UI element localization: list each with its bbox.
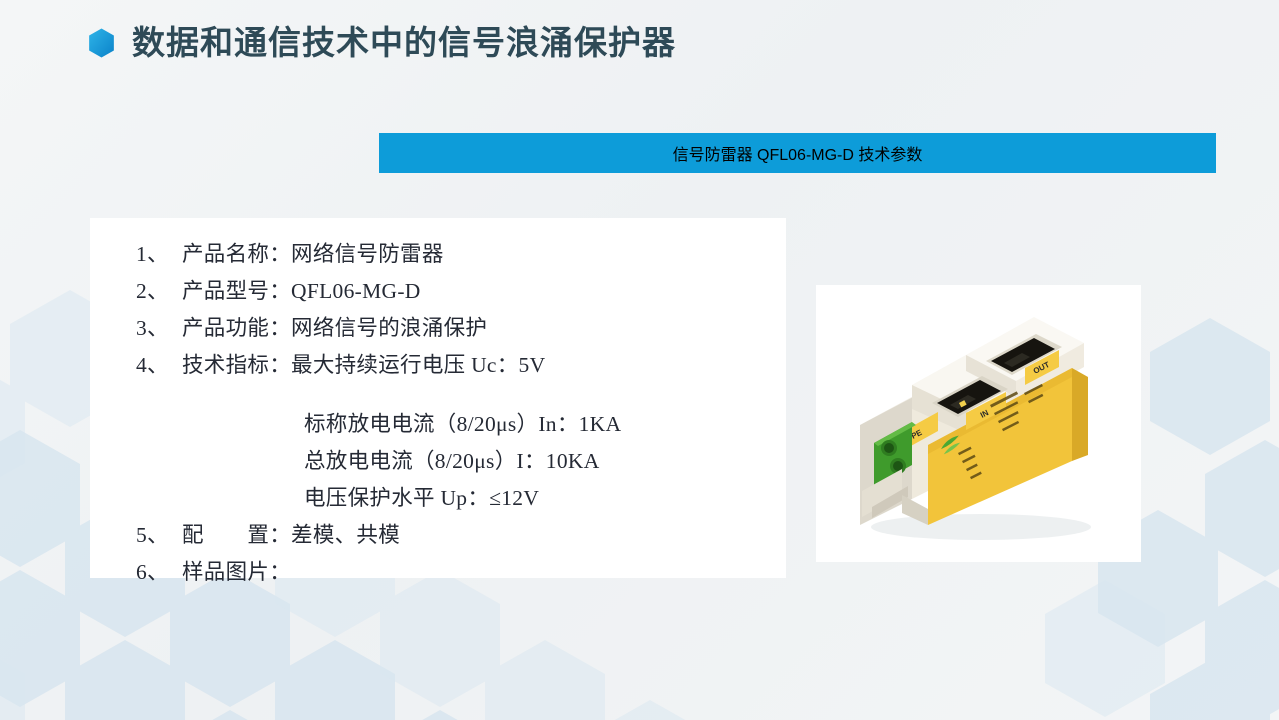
spec-spacer <box>136 384 776 406</box>
spec-subitem-total-discharge-current: 总放电电流（8/20μs）I：10KA <box>136 443 776 480</box>
spec-item-1-number: 1、 <box>136 236 182 273</box>
spec-item-2: 2、产品型号：QFL06-MG-D <box>136 273 776 310</box>
spec-banner: 信号防雷器 QFL06-MG-D 技术参数 <box>379 133 1216 173</box>
page-title: 数据和通信技术中的信号浪涌保护器 <box>132 24 676 62</box>
hexagon-icon <box>88 28 115 58</box>
spec-item-3-label: 产品功能： <box>182 310 291 347</box>
spec-item-4: 4、技术指标：最大持续运行电压 Uc：5V <box>136 347 776 384</box>
spec-item-1-value: 网络信号防雷器 <box>291 242 444 266</box>
slide-canvas: 数据和通信技术中的信号浪涌保护器 信号防雷器 QFL06-MG-D 技术参数 1… <box>0 0 1279 720</box>
page-title-row: 数据和通信技术中的信号浪涌保护器 <box>88 24 676 62</box>
spec-item-6-number: 6、 <box>136 554 182 591</box>
spec-item-5: 5、配 置：差模、共模 <box>136 517 776 554</box>
spec-item-4-value: 最大持续运行电压 Uc：5V <box>291 353 545 377</box>
spec-subitem-nominal-discharge-current: 标称放电电流（8/20μs）In：1KA <box>136 406 776 443</box>
spec-item-3: 3、产品功能：网络信号的浪涌保护 <box>136 310 776 347</box>
spec-item-5-label: 配 置： <box>182 517 291 554</box>
spec-item-5-number: 5、 <box>136 517 182 554</box>
spec-item-6: 6、样品图片： <box>136 554 776 591</box>
spec-item-5-value: 差模、共模 <box>291 523 400 547</box>
spec-item-1: 1、产品名称：网络信号防雷器 <box>136 236 776 273</box>
spec-item-1-label: 产品名称： <box>182 236 291 273</box>
spec-item-4-label: 技术指标： <box>182 347 291 384</box>
spec-list: 1、产品名称：网络信号防雷器 2、产品型号：QFL06-MG-D 3、产品功能：… <box>136 236 776 591</box>
spec-banner-text: 信号防雷器 QFL06-MG-D 技术参数 <box>673 141 923 165</box>
spec-item-2-number: 2、 <box>136 273 182 310</box>
spec-item-3-number: 3、 <box>136 310 182 347</box>
spec-item-2-label: 产品型号： <box>182 273 291 310</box>
spec-item-2-value: QFL06-MG-D <box>291 279 421 303</box>
product-photo-surge-protector: IN OUT PE <box>816 285 1141 562</box>
spec-card: 1、产品名称：网络信号防雷器 2、产品型号：QFL06-MG-D 3、产品功能：… <box>90 218 786 578</box>
spec-item-4-number: 4、 <box>136 347 182 384</box>
spec-item-6-label: 样品图片： <box>182 554 291 591</box>
product-photo-card: IN OUT PE <box>816 285 1141 562</box>
spec-subitem-voltage-protection-level: 电压保护水平 Up：≤12V <box>136 480 776 517</box>
spec-item-3-value: 网络信号的浪涌保护 <box>291 316 487 340</box>
